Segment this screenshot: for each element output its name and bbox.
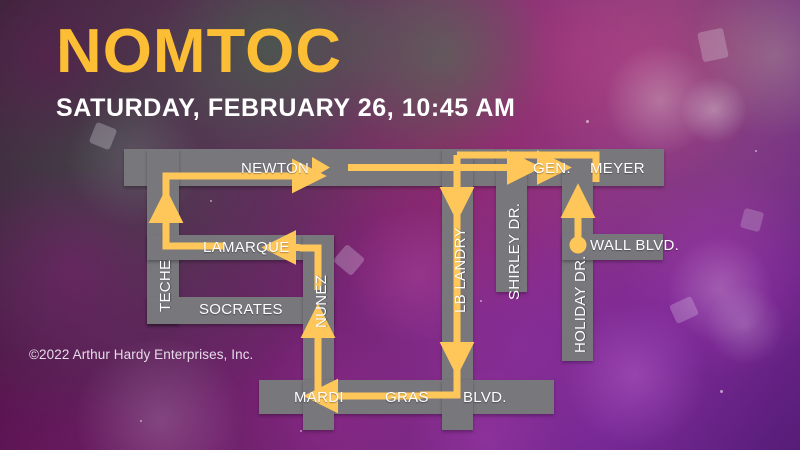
route-arrow-teche-to-newton bbox=[166, 176, 310, 246]
street-label-gen: GEN. bbox=[533, 160, 571, 177]
street-label-lamarque: LAMARQUE bbox=[203, 239, 290, 256]
street-label-socrates: SOCRATES bbox=[199, 301, 283, 318]
arrowhead-newton-1 bbox=[312, 157, 330, 178]
street-label-teche: TECHE bbox=[157, 260, 174, 312]
street-label-gras: GRAS bbox=[385, 389, 429, 406]
street-label-lb-landry: LB LANDRY bbox=[452, 227, 469, 313]
parade-route-map: NEWTON GEN. MEYER LAMARQUE SOCRATES WALL… bbox=[0, 0, 800, 450]
street-label-meyer: MEYER bbox=[590, 160, 645, 177]
route-marker-gen-meyer bbox=[513, 159, 530, 176]
street-label-holiday-dr: HOLIDAY DR. bbox=[572, 255, 589, 353]
parade-route-arrows bbox=[0, 0, 800, 450]
street-label-shirley-dr: SHIRLEY DR. bbox=[506, 203, 523, 300]
street-label-nunez: NUNEZ bbox=[313, 275, 330, 328]
route-arrowhead-group bbox=[312, 0, 800, 178]
parade-route-graphic: NOMTOC SATURDAY, FEBRUARY 26, 10:45 AM ©… bbox=[0, 0, 800, 450]
street-label-newton: NEWTON bbox=[241, 160, 309, 177]
street-label-wall-blvd: WALL BLVD. bbox=[590, 237, 679, 254]
route-marker-wall-blvd bbox=[570, 237, 587, 254]
street-label-blvd: BLVD. bbox=[463, 389, 507, 406]
street-label-mardi: MARDI bbox=[294, 389, 344, 406]
